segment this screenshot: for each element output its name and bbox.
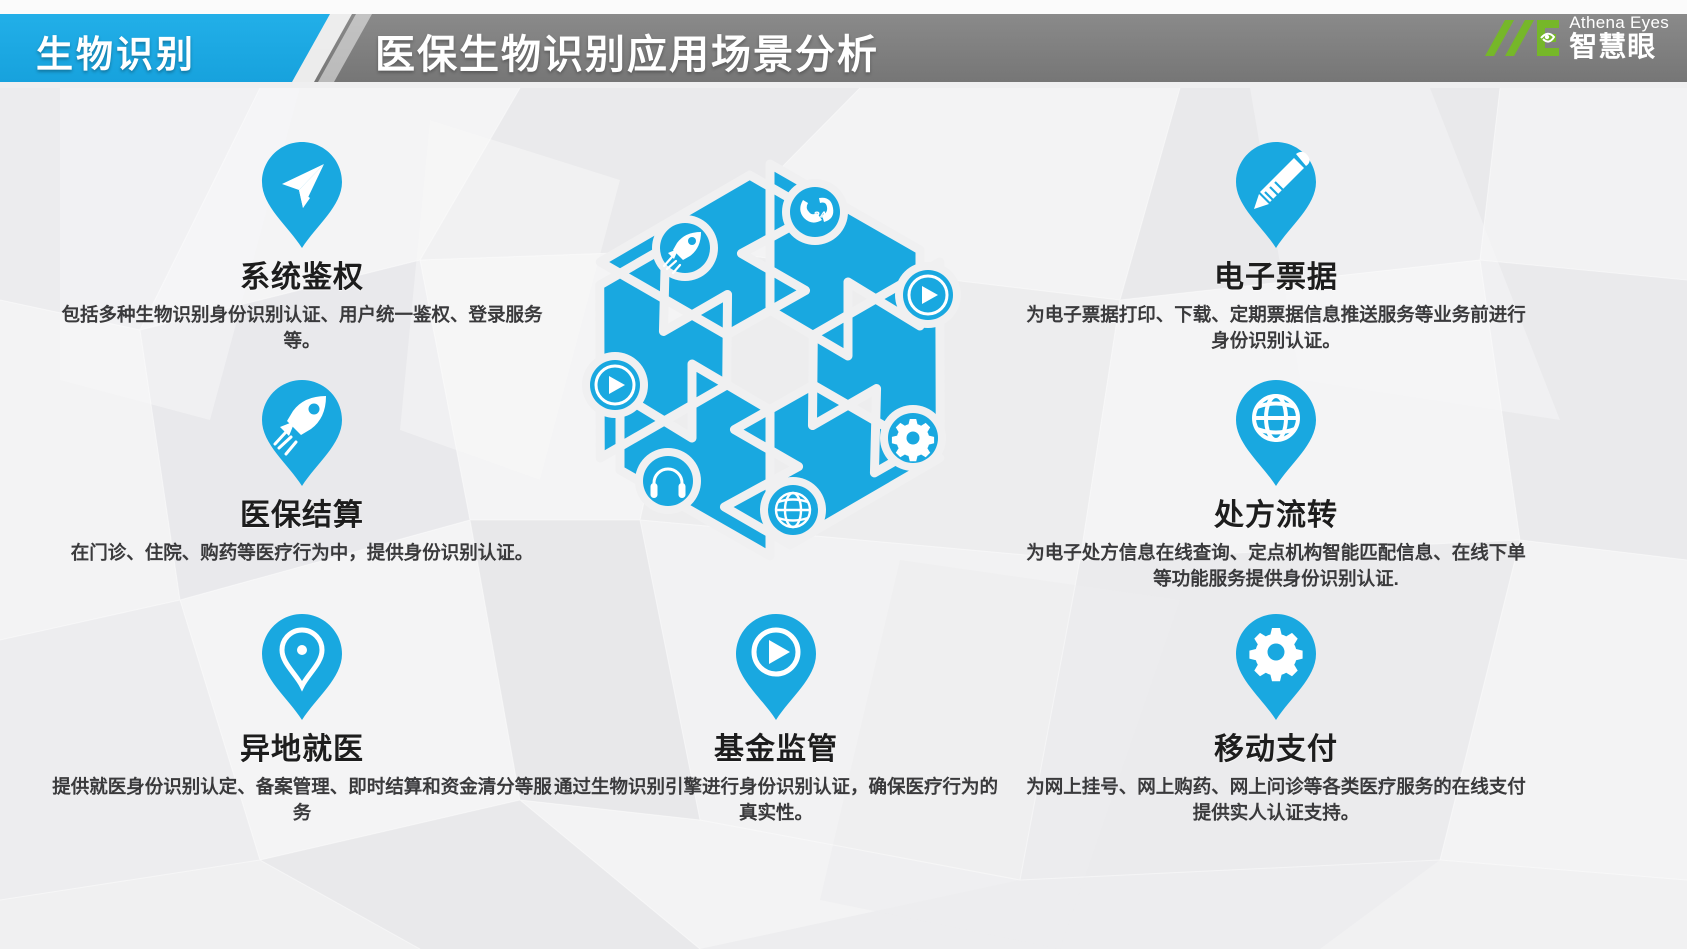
header-tag-label: 生物识别 [36,24,196,78]
card-description: 包括多种生物识别身份识别认证、用户统一鉴权、登录服务等。 [52,302,552,355]
logo-text: Athena Eyes 智慧眼 [1569,14,1669,61]
badge-play-left [582,352,648,418]
company-logo: Athena Eyes 智慧眼 [1483,14,1669,61]
hexagon-pinwheel-diagram: 24 [520,120,1020,590]
rocket-icon [258,378,346,488]
card-prescription-circulation[interactable]: 处方流转 为电子处方信息在线查询、定点机构智能匹配信息、在线下单等功能服务提供身… [1026,378,1526,593]
card-description: 为电子票据打印、下载、定期票据信息推送服务等业务前进行身份识别认证。 [1026,302,1526,355]
card-title: 电子票据 [1026,252,1526,296]
card-electronic-bill[interactable]: 电子票据 为电子票据打印、下载、定期票据信息推送服务等业务前进行身份识别认证。 [1026,140,1526,355]
card-description: 为电子处方信息在线查询、定点机构智能匹配信息、在线下单等功能服务提供身份识别认证… [1026,540,1526,593]
paper-plane-icon [258,140,346,250]
globe-icon [1232,378,1320,488]
card-title: 处方流转 [1026,490,1526,534]
slide-canvas: 生物识别 医保生物识别应用场景分析 Athena Eyes 智慧眼 [0,0,1687,949]
card-title: 医保结算 [52,490,552,534]
card-system-auth[interactable]: 系统鉴权 包括多种生物识别身份识别认证、用户统一鉴权、登录服务等。 [52,140,552,355]
map-pin-icon [258,612,346,722]
pencil-icon [1232,140,1320,250]
play-circle-icon [732,612,820,722]
card-mobile-payment[interactable]: 移动支付 为网上挂号、网上购药、网上问诊等各类医疗服务的在线支付提供实人认证支持… [1026,612,1526,827]
card-title: 异地就医 [52,724,552,768]
badge-rocket [652,215,718,281]
card-description: 在门诊、住院、购药等医疗行为中，提供身份识别认证。 [52,540,552,566]
badge-globe [760,477,826,543]
badge-play-right [895,262,961,328]
card-title: 移动支付 [1026,724,1526,768]
logo-name-en: Athena Eyes [1569,14,1669,31]
card-remote-medical-treatment[interactable]: 异地就医 提供就医身份识别认定、备案管理、即时结算和资金清分等服务 [52,612,552,827]
card-fund-supervision[interactable]: 基金监管 通过生物识别引擎进行身份识别认证，确保医疗行为的真实性。 [546,612,1006,827]
gear-icon [1232,612,1320,722]
logo-name-cn: 智慧眼 [1569,33,1669,61]
pinwheel-blades: 24 [525,132,1014,588]
badge-phone-24h: 24 [782,179,848,245]
svg-text:24: 24 [814,210,827,222]
ae-logo-icon [1483,16,1561,60]
page-title: 医保生物识别应用场景分析 [375,22,879,80]
card-title: 系统鉴权 [52,252,552,296]
card-description: 提供就医身份识别认定、备案管理、即时结算和资金清分等服务 [52,774,552,827]
badge-gear [880,405,946,471]
badge-headphones [635,448,701,514]
slide-header: 生物识别 医保生物识别应用场景分析 Athena Eyes 智慧眼 [0,0,1687,88]
card-description: 为网上挂号、网上购药、网上问诊等各类医疗服务的在线支付提供实人认证支持。 [1026,774,1526,827]
card-medical-insurance-settlement[interactable]: 医保结算 在门诊、住院、购药等医疗行为中，提供身份识别认证。 [52,378,552,566]
card-description: 通过生物识别引擎进行身份识别认证，确保医疗行为的真实性。 [546,774,1006,827]
card-title: 基金监管 [546,724,1006,768]
